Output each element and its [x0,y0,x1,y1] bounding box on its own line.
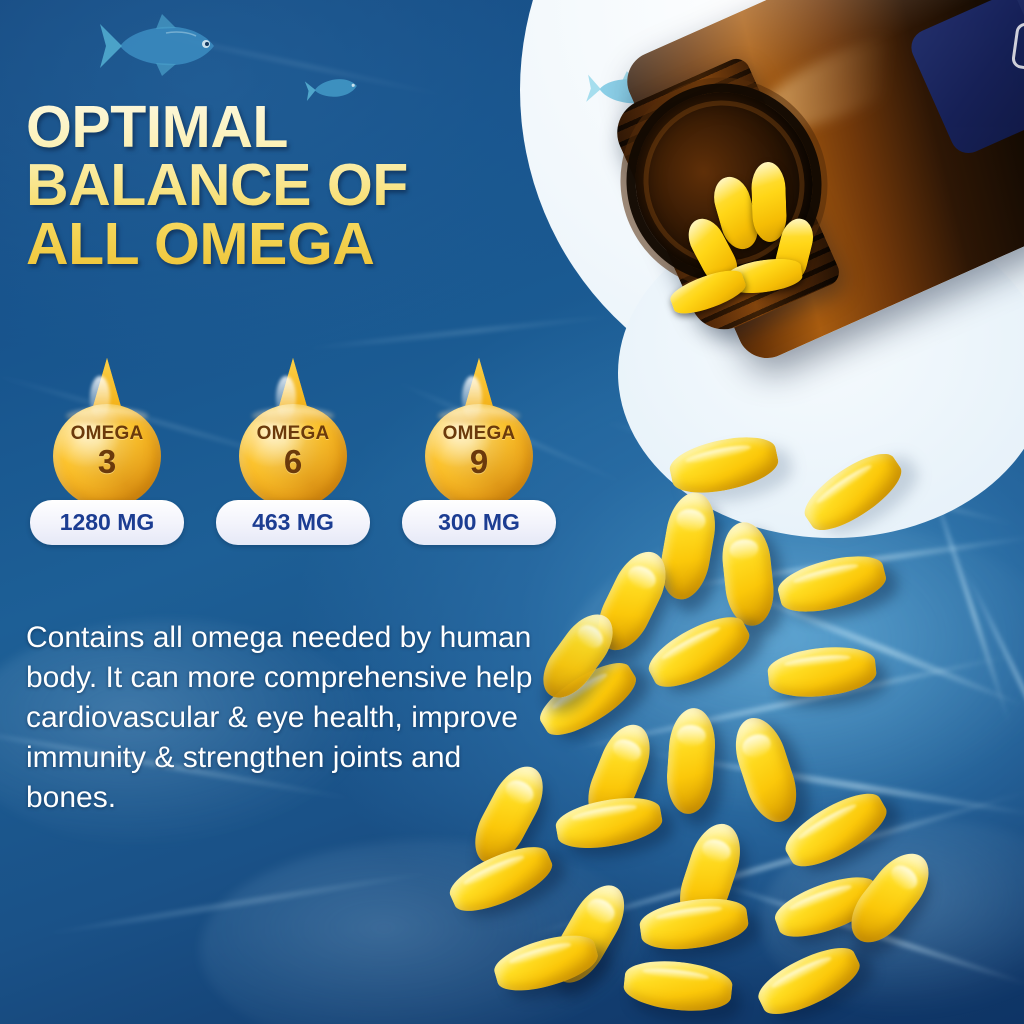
oil-droplet-icon: OMEGA 9 [394,358,564,522]
droplet-band [252,408,334,424]
oil-droplet-icon: OMEGA 3 [22,358,192,522]
omega-label: OMEGA [239,424,347,443]
dosage-pill: 1280 MG [30,500,184,545]
omega-number: 9 [425,445,533,480]
omega-badge-6: OMEGA 6 463 MG [208,358,378,522]
capsule [726,711,805,829]
omega-label: OMEGA [53,424,161,443]
capsule [553,791,665,855]
omega-badge-3: OMEGA 3 1280 MG [22,358,192,522]
capsule [774,548,890,621]
omega-label: OMEGA [425,424,533,443]
headline-line-1: OPTIMAL [26,98,566,156]
product-poster: OPTIMAL BALANCE OF ALL OMEGA OMEGA 3 128… [0,0,1024,1024]
omega-badge-group: OMEGA 3 1280 MG OMEGA 6 [22,358,562,578]
capsule [622,956,734,1015]
dosage-pill: 300 MG [402,500,556,545]
capsule [490,927,603,1000]
droplet-band [438,408,520,424]
capsule [719,520,778,628]
body-description: Contains all omega needed by human body.… [26,618,546,817]
headline-line-2: BALANCE OF [26,156,566,214]
omega-badge-9: OMEGA 9 300 MG [394,358,564,522]
oil-droplet-icon: OMEGA 6 [208,358,378,522]
omega-number: 6 [239,445,347,480]
dosage-pill: 463 MG [216,500,370,545]
capsule [766,642,878,701]
droplet-band [66,408,148,424]
capsule [796,442,911,541]
capsule [664,707,717,816]
capsule [751,937,866,1024]
capsule [637,893,751,956]
capsule [641,606,757,698]
page-title: OPTIMAL BALANCE OF ALL OMEGA [26,98,566,273]
capsule [666,429,782,500]
capsule [655,489,721,604]
omega-number: 3 [53,445,161,480]
headline-line-3: ALL OMEGA [26,215,566,273]
